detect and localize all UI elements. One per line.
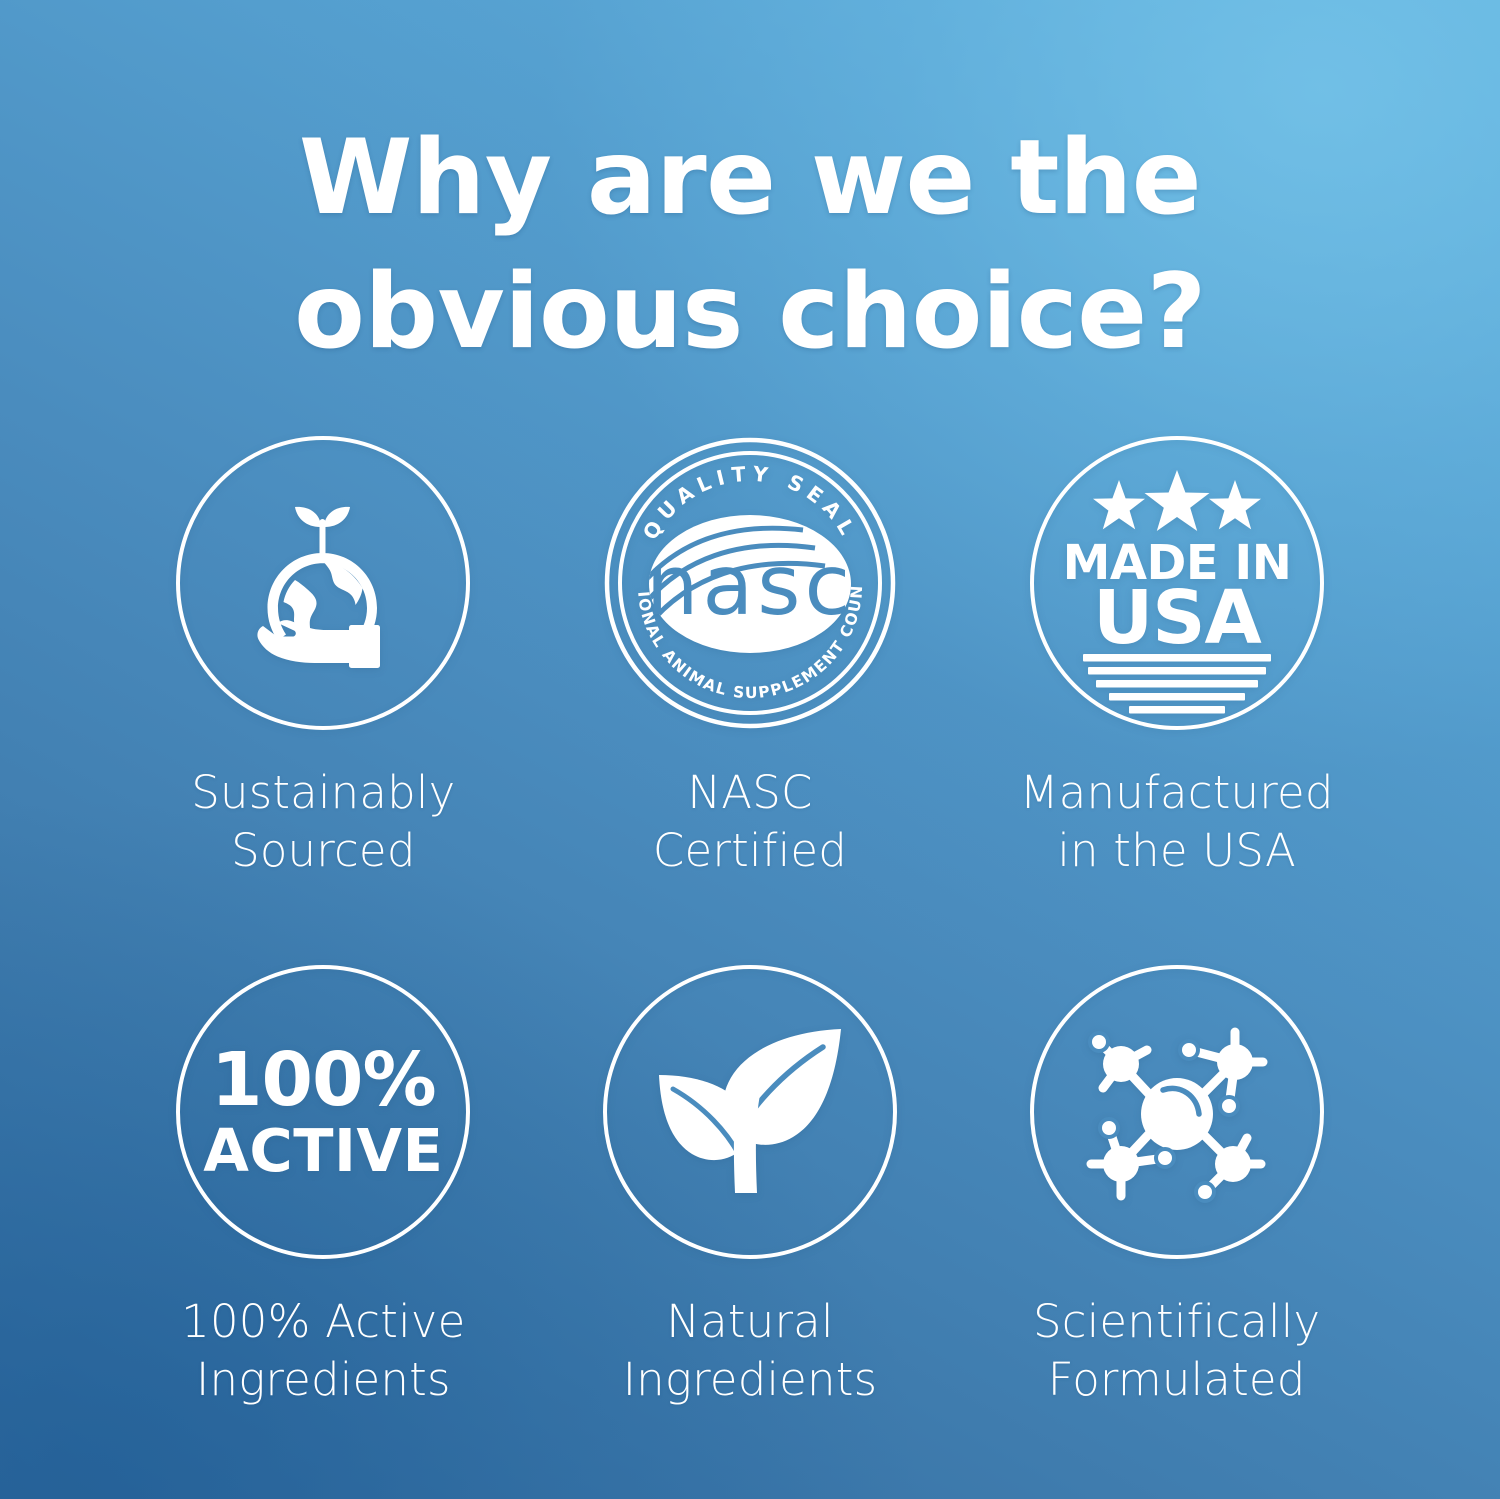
infographic-page: Why are we the obvious choice? [0, 0, 1500, 1499]
stripes-icon [1083, 654, 1271, 714]
badge-ring: nasc QUALITY SEAL NATIONAL ANIMAL SUPPLE… [603, 436, 897, 730]
badge-natural-ingredients: Natural Ingredients [550, 965, 950, 1410]
badge-caption-line-1: Scientifically [1033, 1293, 1320, 1352]
badge-ring [176, 436, 470, 730]
badge-scientifically-formulated: Scientifically Formulated [977, 965, 1377, 1410]
badge-caption-line-1: 100% Active [181, 1293, 465, 1352]
badge-nasc-certified: nasc QUALITY SEAL NATIONAL ANIMAL SUPPLE… [550, 436, 950, 881]
badge-caption: Sustainably Sourced [191, 764, 455, 881]
badge-ring: 100% ACTIVE [176, 965, 470, 1259]
page-title-line-2: obvious choice? [220, 246, 1280, 380]
badge-caption-line-2: Certified [653, 822, 847, 881]
nasc-wordmark: nasc [646, 537, 854, 634]
badge-caption-line-2: in the USA [1020, 822, 1334, 881]
hundred-percent-text: 100% [211, 1044, 436, 1117]
badge-caption-line-2: Formulated [1033, 1351, 1320, 1410]
badge-caption: NASC Certified [653, 764, 847, 881]
badge-manufactured-in-usa: MADE IN USA Manufac [977, 436, 1377, 881]
benefit-badge-grid: Sustainably Sourced [110, 436, 1390, 1410]
badge-ring [1030, 965, 1324, 1259]
badge-caption-line-1: Manufactured [1020, 764, 1334, 823]
badge-caption-line-1: NASC [653, 764, 847, 823]
badge-caption-line-2: Ingredients [181, 1351, 465, 1410]
active-text: ACTIVE [203, 1122, 443, 1180]
page-title: Why are we the obvious choice? [220, 112, 1280, 380]
badge-caption: Natural Ingredients [623, 1293, 878, 1410]
made-in-usa-badge-icon: MADE IN USA [1057, 468, 1297, 698]
badge-caption-line-1: Natural [623, 1293, 878, 1352]
badge-caption-line-2: Ingredients [623, 1351, 878, 1410]
page-title-line-1: Why are we the [220, 112, 1280, 246]
badge-sustainably-sourced: Sustainably Sourced [123, 436, 523, 881]
two-leaves-icon [645, 1017, 855, 1207]
globe-sprout-in-hand-icon [223, 483, 423, 683]
hundred-percent-active-icon: 100% ACTIVE [203, 1044, 443, 1180]
badge-100-percent-active: 100% ACTIVE 100% Active Ingredients [123, 965, 523, 1410]
badge-caption: Manufactured in the USA [1020, 764, 1334, 881]
star-icon [1093, 470, 1261, 531]
badge-caption: Scientifically Formulated [1033, 1293, 1320, 1410]
badge-ring: MADE IN USA [1030, 436, 1324, 730]
badge-ring [603, 965, 897, 1259]
badge-caption-line-1: Sustainably [191, 764, 455, 823]
molecule-icon [1071, 1006, 1283, 1218]
usa-text: USA [1093, 575, 1261, 661]
badge-caption: 100% Active Ingredients [181, 1293, 465, 1410]
nasc-quality-seal-icon: nasc QUALITY SEAL NATIONAL ANIMAL SUPPLE… [603, 436, 897, 730]
badge-caption-line-2: Sourced [191, 822, 455, 881]
